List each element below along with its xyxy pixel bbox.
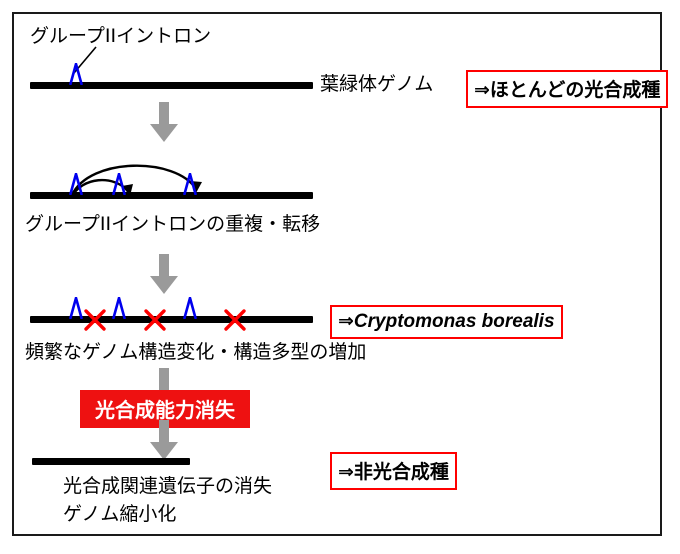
stage-3-caption: 頻繁なゲノム構造変化・構造多型の増加 — [25, 340, 366, 366]
intron-lambda-icon — [183, 173, 197, 195]
stage-2-caption: グループIIイントロンの重複・転移 — [25, 212, 320, 238]
intron-lambda-icon — [69, 63, 83, 85]
intron-lambda-icon — [69, 173, 83, 195]
red-x-icon — [83, 308, 107, 332]
group-ii-intron-label: グループIIイントロン — [30, 24, 211, 50]
down-arrow-icon — [147, 100, 181, 144]
red-x-icon — [143, 308, 167, 332]
figure-root: グループIIイントロン 葉緑体ゲノム ⇒ほとんどの光合成種 — [0, 0, 680, 554]
intron-lambda-icon — [69, 297, 83, 319]
intron-lambda-icon — [183, 297, 197, 319]
stage-4-caption-line-1: 光合成関連遺伝子の消失 — [63, 474, 272, 500]
red-x-icon — [223, 308, 247, 332]
down-arrow-icon — [147, 418, 181, 462]
intron-lambda-icon — [112, 173, 126, 195]
chloroplast-genome-label: 葉緑体ゲノム — [320, 72, 433, 98]
outcome-badge-nonphotosynthetic: ⇒非光合成種 — [330, 452, 457, 490]
stage-4-caption-line-2: ゲノム縮小化 — [63, 502, 176, 528]
genome-line-stage-4 — [32, 458, 190, 465]
outcome-badge-photosynthetic: ⇒ほとんどの光合成種 — [466, 70, 668, 108]
outcome-badge-cryptomonas: ⇒Cryptomonas borealis — [330, 305, 563, 339]
intron-lambda-icon — [112, 297, 126, 319]
down-arrow-icon — [147, 252, 181, 296]
